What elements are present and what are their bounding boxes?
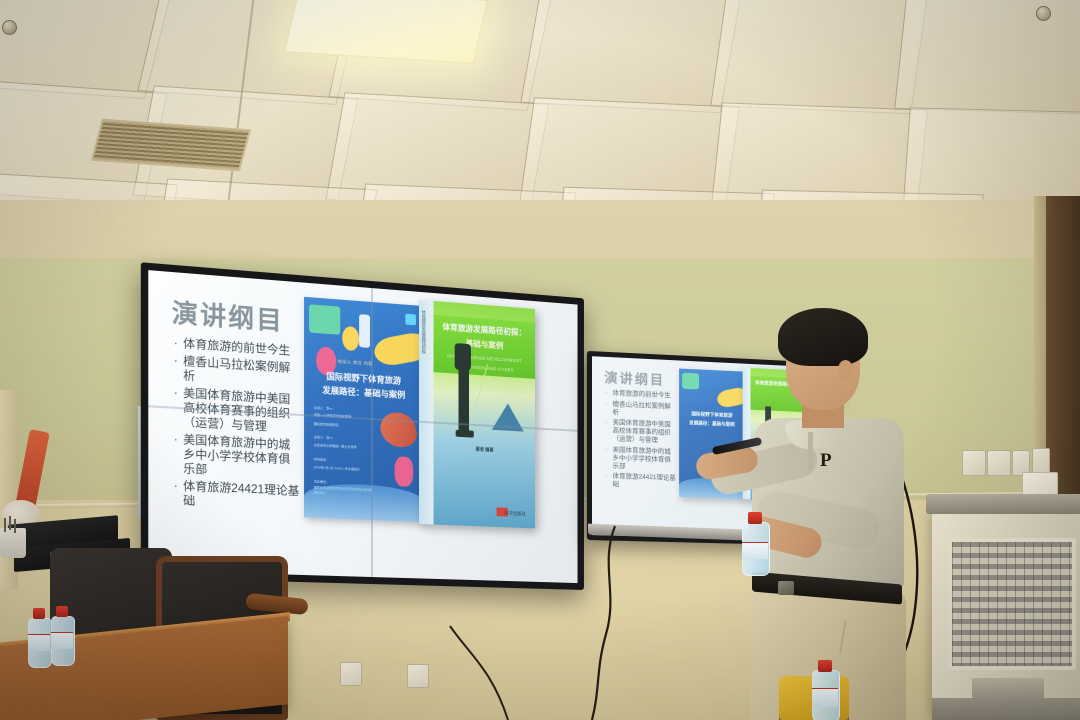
bullet-text: 檀香山马拉松案例解析 — [613, 401, 677, 419]
poster-detail-7: 2024年×月×日 14:00 / 学术报告厅 — [314, 464, 371, 472]
list-item: · 体育旅游24421理论基础 — [174, 479, 300, 513]
bullet-marker: · — [174, 336, 178, 351]
pen-cup — [0, 528, 26, 558]
slide-bullet-list: · 体育旅游的前世今生 · 檀香山马拉松案例解析 · 美国体育旅游中美国高校体育… — [174, 336, 300, 516]
bullet-marker: · — [605, 400, 607, 416]
bullet-marker: · — [605, 419, 607, 443]
list-item: · 檀香山马拉松案例解析 — [174, 354, 300, 391]
held-water-bottle[interactable] — [742, 512, 768, 574]
secondary-bullet-list: ·体育旅游的前世今生 ·檀香山马拉松案例解析 ·美国体育旅游中美国高校体育赛事的… — [605, 389, 676, 494]
bullet-text: 美国体育旅游中美国高校体育赛事的组织（运营）与管理 — [613, 419, 677, 445]
air-cooler-unit[interactable] — [932, 512, 1080, 720]
bullet-text: 美国体育旅游中的城乡中小学学校体育俱乐部 — [613, 446, 677, 472]
cooler-top-panel — [926, 494, 1080, 514]
poster-detail-3: 国际体育旅游研究 — [314, 421, 371, 429]
book-spine: 体育旅游发展路径初探 — [419, 300, 433, 525]
poster-detail-4: 主持人：张×× — [314, 434, 368, 442]
light-switch[interactable] — [987, 450, 1011, 476]
presenter: P — [690, 300, 950, 720]
poster-equestrian-figure — [377, 410, 419, 450]
bottle-cap — [748, 512, 762, 524]
bullet-text: 美国体育旅游中的城乡中小学学校体育俱乐部 — [183, 433, 300, 482]
presentation-room-photo: 演讲纲目 · 体育旅游的前世今生 · 檀香山马拉松案例解析 · 美国体育旅游中美… — [0, 0, 1080, 720]
book-author: 著者 编著 — [436, 444, 533, 455]
list-item: · 美国体育旅游中的城乡中小学学校体育俱乐部 — [174, 433, 300, 482]
wall-outlet[interactable] — [407, 664, 429, 688]
poster-detail-1: 主讲人：李×× — [314, 405, 368, 413]
floor-water-bottle[interactable] — [812, 660, 838, 720]
poster-runner-figure — [343, 326, 360, 351]
cooler-label-plate — [972, 678, 1044, 698]
poster-title-line2: 发展路径：基础与案例 — [311, 384, 416, 401]
table-water-bottle[interactable] — [28, 608, 50, 666]
ceiling — [0, 0, 1080, 232]
bullet-marker: · — [174, 433, 178, 477]
cooler-base — [932, 698, 1080, 720]
cooler-grille — [948, 538, 1076, 670]
book-spine-text: 体育旅游发展路径初探 — [421, 310, 427, 354]
poster-wave-shape — [304, 482, 423, 522]
bullet-marker: · — [174, 479, 178, 508]
bullet-text: 体育旅游的前世今生 — [613, 390, 671, 400]
bullet-text: 檀香山马拉松案例解析 — [183, 355, 300, 391]
poster-runner-figure — [395, 456, 414, 487]
book-hiker-backpack — [454, 343, 470, 371]
cooler-mesh — [952, 542, 1072, 666]
presenter-hair — [778, 308, 868, 366]
bullet-marker: · — [605, 473, 607, 489]
bullet-marker: · — [605, 446, 607, 470]
poster-torch-figure — [359, 314, 370, 348]
bullet-marker: · — [174, 354, 178, 383]
belt-buckle — [778, 581, 794, 595]
table-water-bottle[interactable] — [51, 606, 73, 664]
poster-shape-swoosh — [371, 330, 423, 368]
book-hiker-base — [455, 430, 474, 438]
poster-shape-green — [309, 304, 340, 335]
bullet-text: 体育旅游24421理论基础 — [183, 480, 300, 514]
slide-title: 演讲纲目 — [172, 293, 284, 338]
sprinkler-head — [1036, 6, 1051, 21]
presenter-ear — [838, 360, 853, 380]
poster-badge — [405, 313, 416, 325]
polo-placket — [808, 432, 813, 470]
bottle-label — [742, 542, 768, 559]
blue-poster-image: 时间人 地点 内容 国际视野下体育旅游 发展路径：基础与案例 主讲人：李×× 美… — [304, 297, 423, 522]
poster-kicker: 时间人 地点 内容 — [338, 359, 373, 367]
green-book-image: 体育旅游发展路径初探 体育旅游发展路径初探： 基础与案例 SPORT TOURI… — [419, 300, 535, 529]
bullet-text: 体育旅游24421理论基础 — [613, 473, 677, 491]
bullet-marker: · — [605, 389, 607, 397]
wall-outlet[interactable] — [340, 662, 362, 686]
poster-detail-5: 北京体育大学教授 / 博士生导师 — [314, 442, 371, 450]
book-publisher: 科学出版社 — [504, 510, 526, 517]
device-cable — [330, 600, 630, 720]
poster-detail-6: 时间地点： — [314, 456, 362, 463]
sprinkler-head — [2, 20, 17, 35]
secondary-slide-title: 演讲纲目 — [604, 367, 665, 389]
shirt-logo: P — [820, 450, 837, 472]
light-switch[interactable] — [962, 450, 986, 476]
